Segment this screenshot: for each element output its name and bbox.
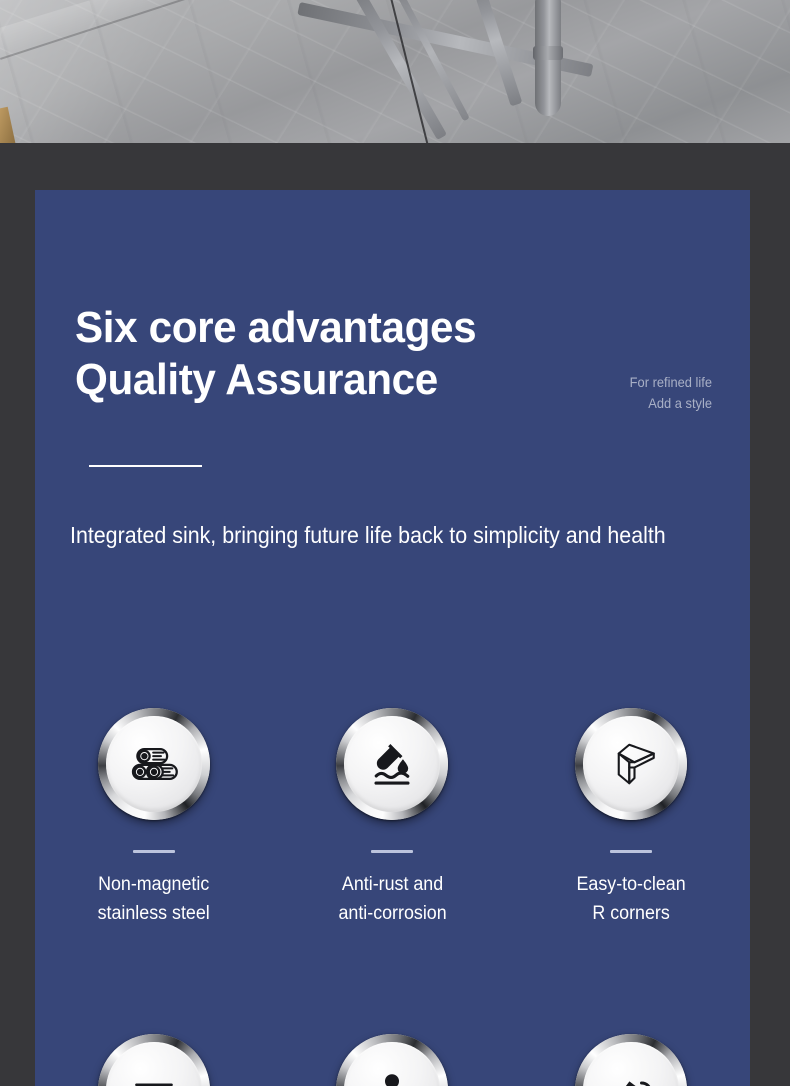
cell-divider (610, 850, 652, 853)
person-figure-icon (364, 1062, 420, 1086)
feature-badge (575, 1034, 687, 1086)
feature-badge (336, 708, 448, 820)
feature-badge (98, 1034, 210, 1086)
feature-label-line-1: Anti-rust and (338, 870, 446, 899)
feature-item-4[interactable] (35, 1034, 273, 1086)
feature-item-easy-clean[interactable]: Easy-to-clean R corners (512, 708, 750, 928)
feature-label: Anti-rust and anti-corrosion (338, 870, 446, 928)
feature-label: Non-magnetic stainless steel (98, 870, 210, 928)
feature-label: Easy-to-clean R corners (576, 870, 685, 928)
feature-label-line-1: Non-magnetic (98, 870, 210, 899)
feature-item-6[interactable] (512, 1034, 750, 1086)
r-corner-angle-icon (603, 736, 659, 792)
advantages-panel: Six core advantages Quality Assurance Fo… (35, 190, 750, 1086)
tagline: For refined life Add a style (500, 372, 712, 414)
test-tube-droplet-icon (364, 736, 420, 792)
feature-badge (575, 708, 687, 820)
rack-leg-collar (533, 46, 563, 60)
title-divider (89, 465, 202, 467)
feature-badge (336, 1034, 448, 1086)
heading-line-1: Six core advantages (75, 302, 574, 354)
feature-item-anti-rust[interactable]: Anti-rust and anti-corrosion (273, 708, 511, 928)
feature-badge (98, 708, 210, 820)
cell-divider (371, 850, 413, 853)
basin-trapezoid-icon (126, 1062, 182, 1086)
feature-row-2 (35, 1034, 750, 1086)
feature-label-line-1: Easy-to-clean (576, 870, 685, 899)
tagline-line-1: For refined life (500, 372, 712, 393)
marble-floor-photo (0, 0, 790, 143)
stacked-steel-logs-icon (126, 736, 182, 792)
feature-item-5[interactable] (273, 1034, 511, 1086)
feature-item-non-magnetic[interactable]: Non-magnetic stainless steel (35, 708, 273, 928)
feature-label-line-2: anti-corrosion (338, 899, 446, 928)
feature-label-line-2: R corners (576, 899, 685, 928)
tagline-line-2: Add a style (500, 393, 712, 414)
cell-divider (133, 850, 175, 853)
feature-label-line-2: stainless steel (98, 899, 210, 928)
feature-row-1: Non-magnetic stainless steel (35, 708, 750, 928)
heading-line-2: Quality Assurance (75, 354, 574, 406)
product-detail-page: Six core advantages Quality Assurance Fo… (0, 0, 790, 1086)
faucet-spray-icon (603, 1062, 659, 1086)
page-subtitle: Integrated sink, bringing future life ba… (70, 520, 684, 550)
